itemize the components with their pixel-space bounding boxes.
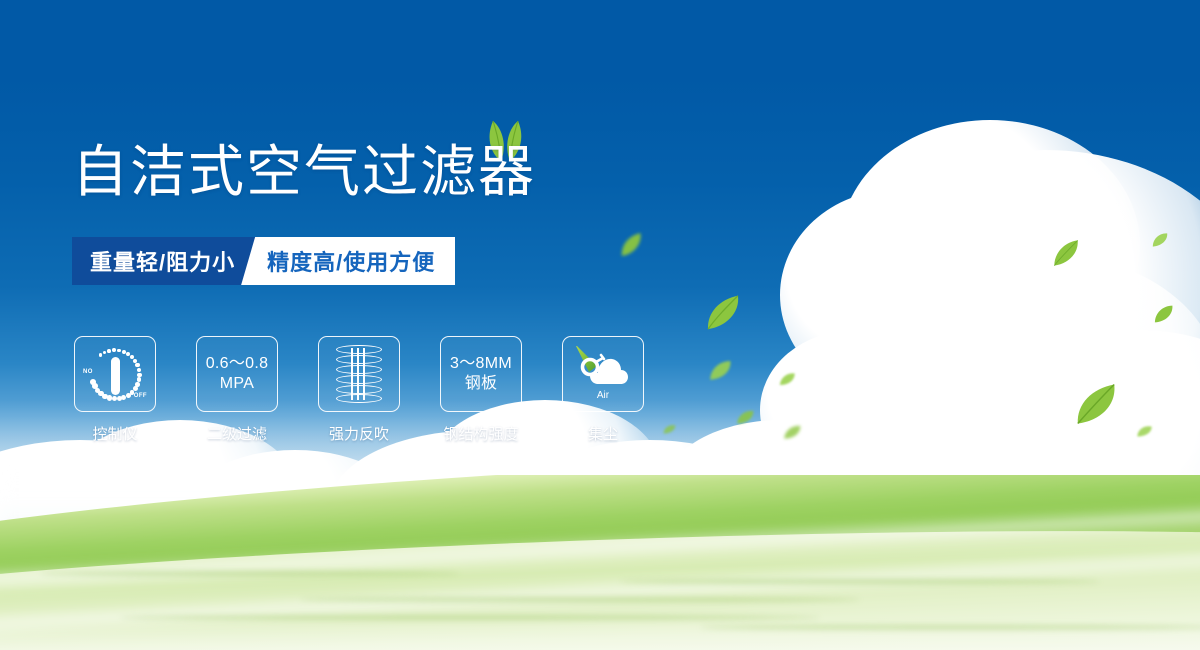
gauge-dial-icon: NO OFF: [84, 345, 146, 403]
gauge-tick-dot: [117, 349, 121, 353]
feature-item-controller[interactable]: NO OFF 控制仪: [72, 336, 158, 444]
coil-spring-icon: [336, 345, 382, 403]
gauge-tick-dot: [112, 396, 117, 401]
feature-icon-box: NO OFF: [74, 336, 156, 412]
feature-icon-box: Air: [562, 336, 644, 412]
subtitle-right: 精度高/使用方便: [241, 237, 455, 285]
feature-icon-box: [318, 336, 400, 412]
gauge-tick-dot: [122, 350, 126, 354]
hero-banner: 自洁式空气过滤器 重量轻/阻力小 精度高/使用方便 NO OFF 控制仪: [0, 0, 1200, 650]
feature-icon-box: 0.6～0.8MPA: [196, 336, 278, 412]
feature-icon-box: 3～8MM钢板: [440, 336, 522, 412]
gauge-needle: [111, 357, 120, 395]
feature-item-steel-strength[interactable]: 3～8MM钢板 钢结构强度: [438, 336, 524, 444]
gauge-off-label: OFF: [134, 393, 147, 399]
coil-bar-1: [351, 348, 353, 400]
gauge-tick-dot: [117, 396, 122, 401]
pressure-text-icon: 0.6～0.8MPA: [206, 354, 269, 393]
coil-bar-3: [363, 348, 365, 400]
feature-label: 控制仪: [92, 423, 137, 444]
feature-label: 强力反吹: [329, 423, 389, 444]
cloud-air-icon: Air: [573, 346, 633, 402]
coil-bar-2: [357, 348, 359, 400]
air-label: Air: [597, 390, 610, 401]
steel-text-icon: 3～8MM钢板: [450, 354, 512, 393]
gauge-no-label: NO: [83, 369, 93, 375]
feature-label: 二级过滤: [207, 423, 267, 444]
feature-item-two-stage-filter[interactable]: 0.6～0.8MPA 二级过滤: [194, 336, 280, 444]
gauge-tick-dot: [90, 379, 96, 385]
gauge-tick-dot: [126, 393, 131, 398]
gauge-tick-dot: [112, 348, 116, 352]
gauge-tick-dot: [137, 368, 141, 372]
gauge-tick-dot: [121, 395, 126, 400]
gauge-tick-dot: [137, 373, 141, 377]
feature-item-dust-collection[interactable]: Air 集尘: [560, 336, 646, 444]
feature-label: 集尘: [588, 423, 618, 444]
gauge-tick-dot: [99, 353, 102, 356]
gauge-tick-dot: [135, 363, 139, 367]
subtitle-bar: 重量轻/阻力小 精度高/使用方便: [72, 237, 455, 285]
gauge-tick-dot: [107, 395, 112, 400]
gauge-tick-dot: [107, 349, 111, 353]
gauge-tick-dot: [103, 351, 107, 355]
page-title: 自洁式空气过滤器: [72, 143, 536, 202]
subtitle-left: 重量轻/阻力小: [72, 237, 255, 285]
feature-label: 钢结构强度: [443, 423, 518, 444]
feature-list: NO OFF 控制仪 0.6～0.8MPA 二级过滤: [72, 336, 646, 444]
feature-item-pulse-jet[interactable]: 强力反吹: [316, 336, 402, 444]
